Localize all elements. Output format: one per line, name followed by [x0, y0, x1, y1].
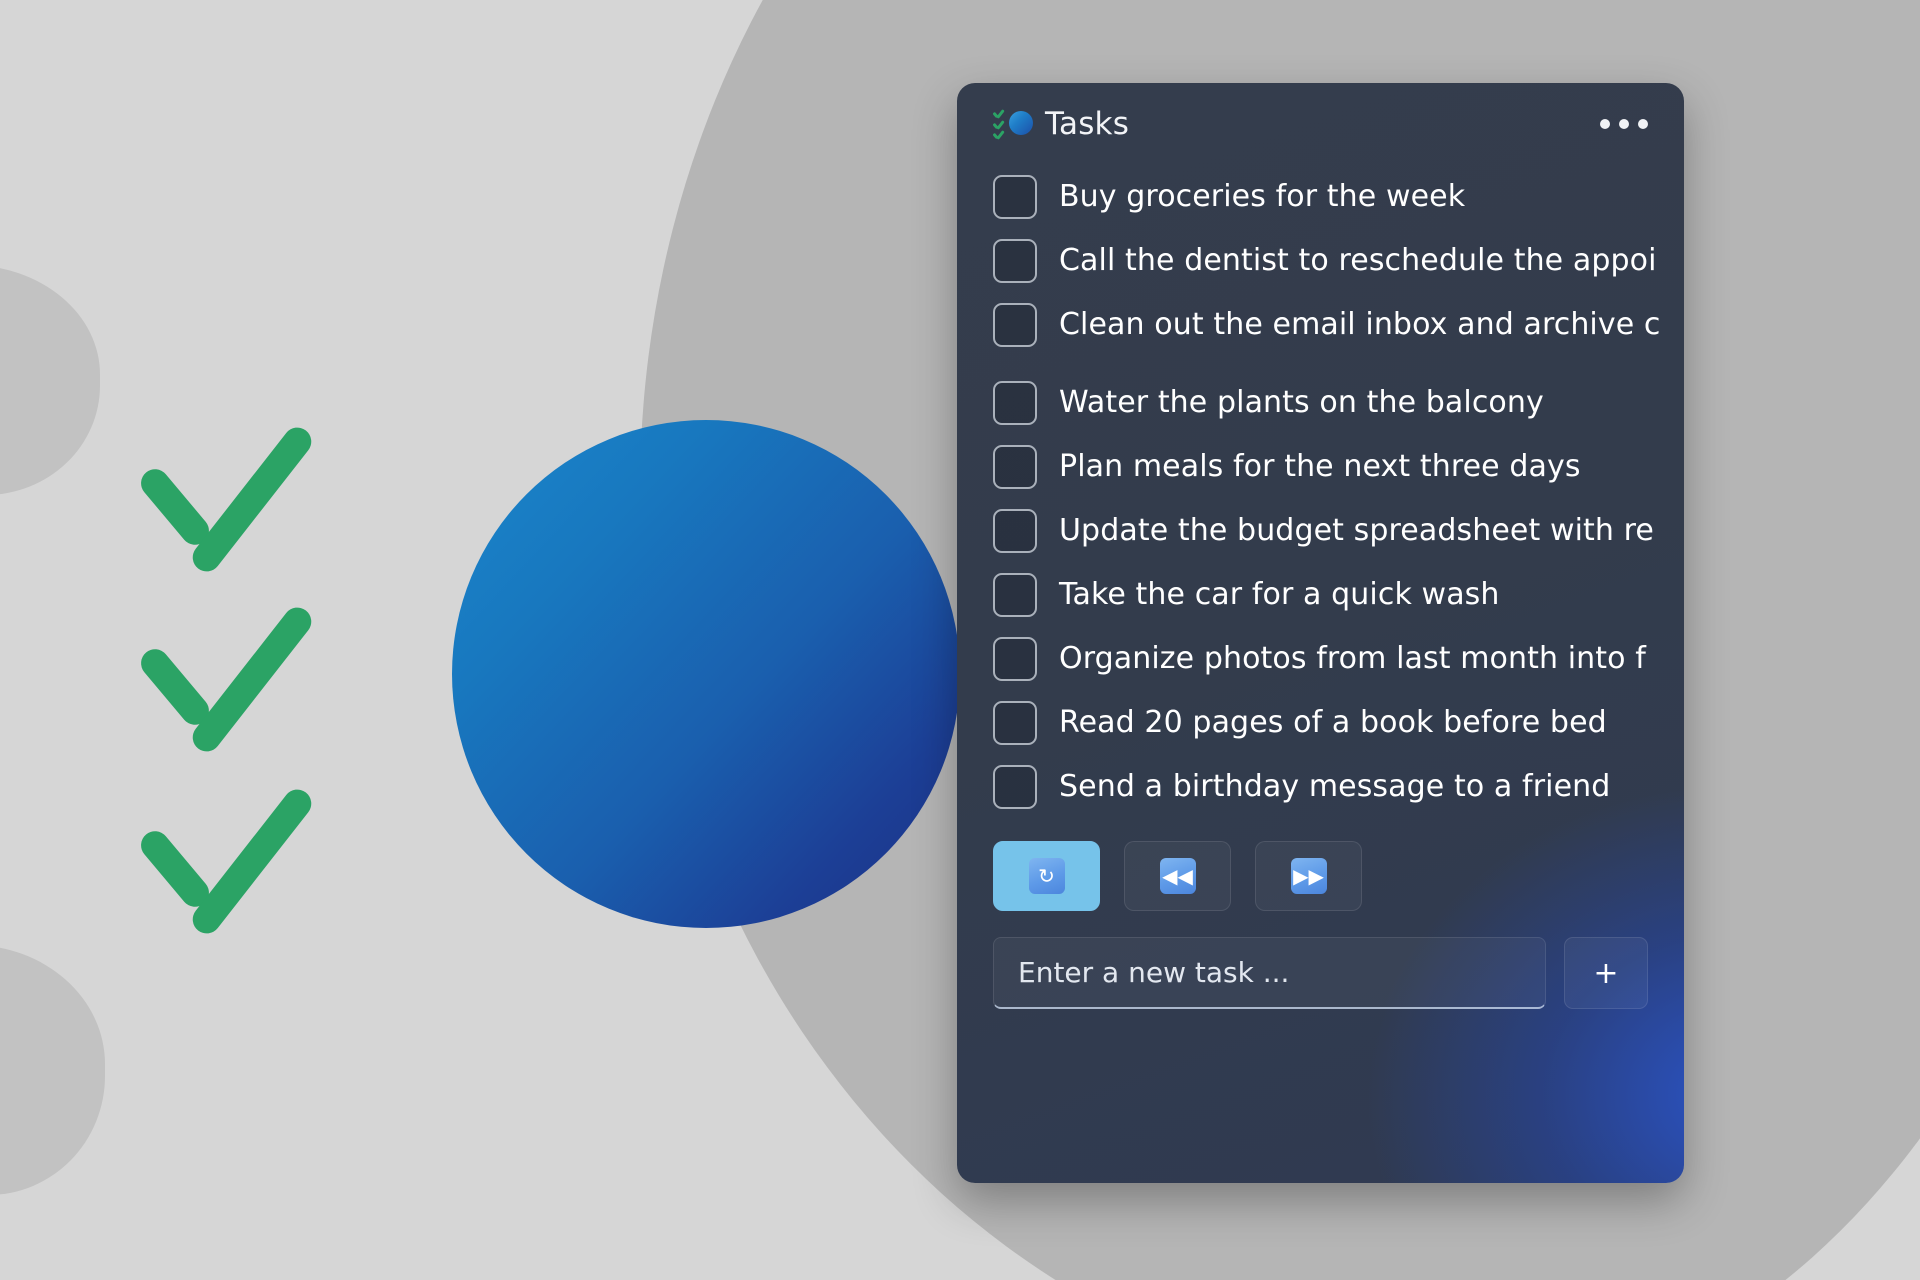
checkmark-icon — [145, 428, 345, 558]
next-button[interactable]: ▶▶ — [1255, 841, 1362, 911]
task-row[interactable]: Buy groceries for the week — [993, 165, 1684, 229]
refresh-button[interactable]: ↻ — [993, 841, 1100, 911]
panel-title: Tasks — [1045, 109, 1129, 140]
checkmark-icon — [145, 608, 345, 738]
new-task-input[interactable] — [993, 937, 1546, 1009]
sphere-icon — [1009, 111, 1033, 135]
task-list: Buy groceries for the week Call the dent… — [957, 165, 1684, 819]
task-row[interactable]: Send a birthday message to a friend — [993, 755, 1684, 819]
new-task-composer: + — [957, 911, 1684, 1009]
checkmark-icon — [145, 790, 345, 920]
task-checkbox[interactable] — [993, 381, 1037, 425]
task-checkbox[interactable] — [993, 445, 1037, 489]
task-label: Call the dentist to reschedule the appoi — [1059, 246, 1657, 276]
task-checkbox[interactable] — [993, 239, 1037, 283]
task-checkbox[interactable] — [993, 573, 1037, 617]
task-row[interactable]: Call the dentist to reschedule the appoi — [993, 229, 1684, 293]
panel-header: Tasks — [957, 83, 1684, 165]
background-blue-sphere — [452, 420, 960, 928]
task-label: Clean out the email inbox and archive c — [1059, 310, 1661, 340]
refresh-icon: ↻ — [1029, 858, 1065, 894]
task-row[interactable]: Update the budget spreadsheet with re — [993, 499, 1684, 563]
add-task-button[interactable]: + — [1564, 937, 1648, 1009]
task-row[interactable]: Clean out the email inbox and archive c — [993, 293, 1684, 357]
background-blob-left-top — [0, 265, 100, 495]
task-row[interactable]: Plan meals for the next three days — [993, 435, 1684, 499]
task-label: Buy groceries for the week — [1059, 182, 1465, 212]
background-blob-left-bottom — [0, 945, 105, 1195]
task-label: Take the car for a quick wash — [1059, 580, 1500, 610]
task-label: Update the budget spreadsheet with re — [1059, 516, 1654, 546]
task-label: Plan meals for the next three days — [1059, 452, 1581, 482]
task-label: Water the plants on the balcony — [1059, 388, 1544, 418]
task-row[interactable]: Water the plants on the balcony — [993, 371, 1684, 435]
task-checkbox[interactable] — [993, 701, 1037, 745]
task-label: Send a birthday message to a friend — [1059, 772, 1610, 802]
task-label: Read 20 pages of a book before bed — [1059, 708, 1607, 738]
previous-button[interactable]: ◀◀ — [1124, 841, 1231, 911]
tasks-panel: Tasks Buy groceries for the week Call th… — [957, 83, 1684, 1183]
task-row[interactable]: Organize photos from last month into f — [993, 627, 1684, 691]
task-row[interactable]: Take the car for a quick wash — [993, 563, 1684, 627]
control-button-row: ↻ ◀◀ ▶▶ — [957, 819, 1684, 911]
overflow-menu-icon[interactable] — [1594, 109, 1654, 139]
task-checkbox[interactable] — [993, 509, 1037, 553]
task-checkbox[interactable] — [993, 175, 1037, 219]
fast-forward-icon: ▶▶ — [1291, 858, 1327, 894]
desktop-wallpaper: Tasks Buy groceries for the week Call th… — [0, 0, 1920, 1280]
task-checkbox[interactable] — [993, 303, 1037, 347]
task-label: Organize photos from last month into f — [1059, 644, 1646, 674]
tasks-app-icon — [993, 107, 1031, 141]
task-checkbox[interactable] — [993, 765, 1037, 809]
task-checkbox[interactable] — [993, 637, 1037, 681]
rewind-icon: ◀◀ — [1160, 858, 1196, 894]
checklist-icon — [993, 110, 1008, 138]
task-row[interactable]: Read 20 pages of a book before bed — [993, 691, 1684, 755]
